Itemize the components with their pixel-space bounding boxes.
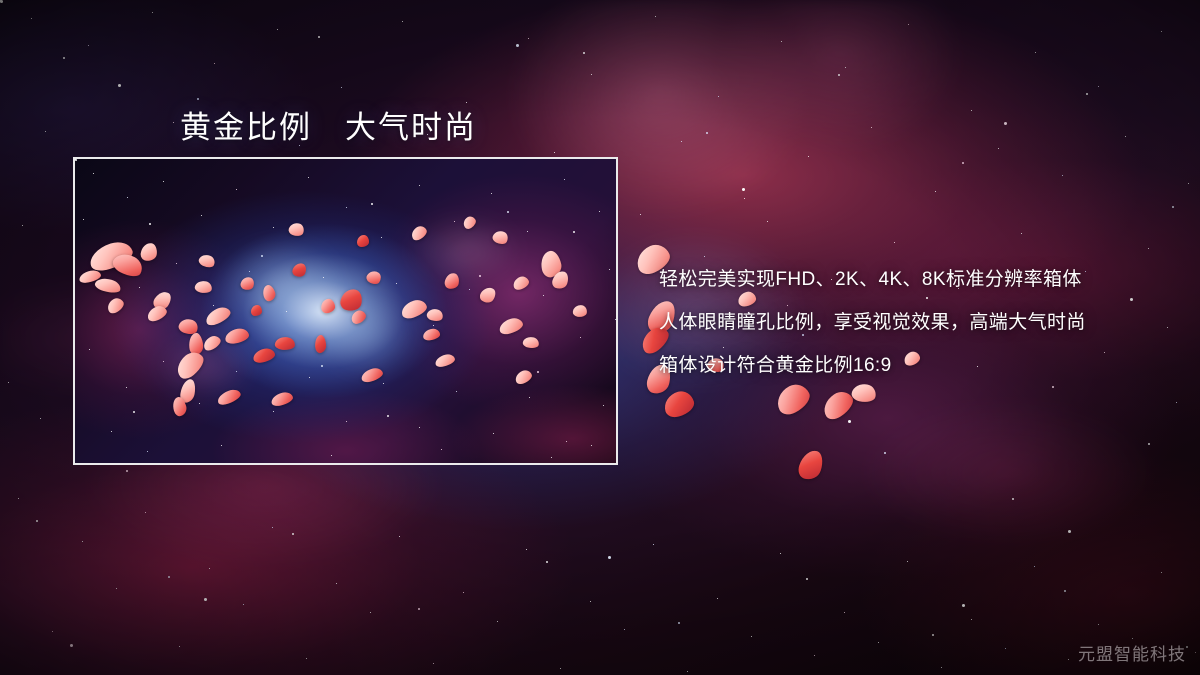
petal	[251, 305, 262, 316]
body-line: 轻松完美实现FHD、2K、4K、8K标准分辨率箱体	[659, 258, 1159, 301]
presentation-slide: 黄金比例 大气时尚	[0, 0, 1200, 675]
watermark: 元盟智能科技	[1078, 640, 1186, 665]
framed-image	[73, 157, 618, 465]
inner-star-layer-medium	[75, 159, 77, 161]
petal	[357, 235, 369, 247]
body-line: 人体眼睛瞳孔比例，享受视觉效果，高端大气时尚	[659, 301, 1159, 344]
body-line: 箱体设计符合黄金比例16:9	[659, 344, 1159, 387]
body-copy: 轻松完美实现FHD、2K、4K、8K标准分辨率箱体 人体眼睛瞳孔比例，享受视觉效…	[659, 258, 1159, 387]
page-title: 黄金比例 大气时尚	[180, 102, 477, 147]
